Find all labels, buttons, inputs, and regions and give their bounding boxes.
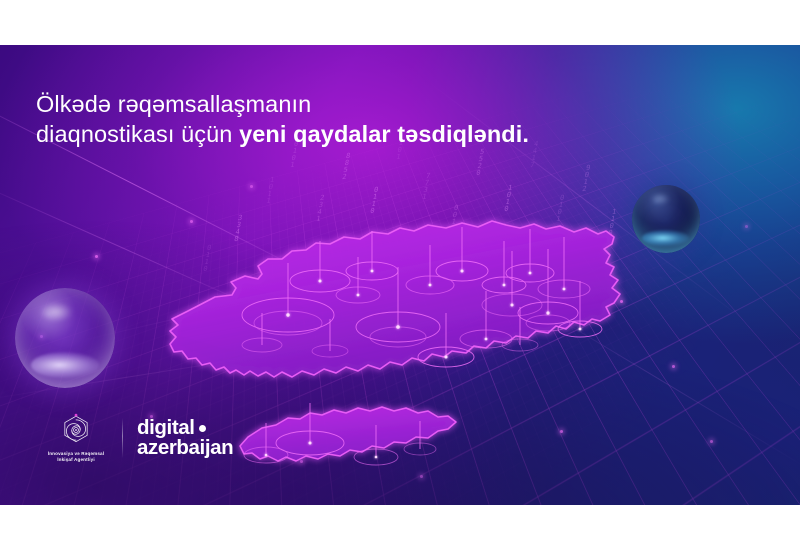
map-exclave-nakhchivan <box>240 407 456 461</box>
floating-digit: 3 3 4 8 <box>233 215 243 243</box>
floating-digit: 0 1 1 0 <box>369 187 379 215</box>
floating-digit: 0 1 0 1 <box>555 195 565 223</box>
brand-line-1-row: digital <box>137 418 233 438</box>
floating-digit: 1 1 0 0 <box>607 209 617 237</box>
glow-particle <box>190 220 193 223</box>
logo-lockup: İnnovasiya və Rəqəmsal İnkişaf Agentliyi… <box>38 413 233 463</box>
floating-digit: 1 0 1 0 <box>503 185 513 213</box>
floating-digit: 1 0 1 1 <box>265 177 275 205</box>
map-data-pillars <box>262 227 580 457</box>
light-streak <box>519 295 800 466</box>
glow-particle <box>560 430 563 433</box>
glow-particle <box>250 185 253 188</box>
glow-particle <box>745 225 748 228</box>
floating-digit: 0 1 1 0 <box>202 245 212 273</box>
glow-particle <box>420 475 423 478</box>
light-streak <box>60 228 567 346</box>
sphere-highlight <box>642 230 690 246</box>
letterbox-bottom <box>0 505 800 550</box>
floating-digit: 0 0 1 1 <box>449 205 459 233</box>
headline-line-1: Ölkədə rəqəmsallaşmanın <box>36 89 596 119</box>
headline-line-2: diaqnostikası üçün yeni qaydalar təsdiql… <box>36 119 596 149</box>
floating-digit: 8 8 5 2 <box>341 153 351 181</box>
headline-emphasis: yeni qaydalar təsdiqləndi. <box>239 121 529 147</box>
digital-azerbaijan-logo: digital azerbaijan <box>137 418 233 458</box>
floating-digit: 7 7 3 1 <box>421 173 431 201</box>
floating-digit: 2 3 4 1 <box>315 195 325 223</box>
sphere-specular <box>650 193 670 205</box>
glow-particle <box>620 300 623 303</box>
map-landmass <box>170 221 620 377</box>
glow-particle <box>672 365 675 368</box>
logo-divider <box>122 418 123 458</box>
glow-particle <box>300 460 303 463</box>
brand-line-2: azerbaijan <box>137 438 233 458</box>
glow-particle <box>710 440 713 443</box>
sphere-specular <box>39 302 73 322</box>
map-pillar-tips <box>265 270 582 459</box>
blue-glass-sphere <box>632 185 700 253</box>
headline-regular: diaqnostikası üçün <box>36 121 239 147</box>
glow-particle <box>95 255 98 258</box>
brand-dot-icon <box>199 425 206 432</box>
letterbox-top <box>0 0 800 45</box>
brand-line-1: digital <box>137 418 195 438</box>
emblem-dot <box>75 414 78 417</box>
agency-logo: İnnovasiya və Rəqəmsal İnkişaf Agentliyi <box>38 413 114 463</box>
brand-line-2-row: azerbaijan <box>137 438 233 458</box>
promo-banner: 1 0 1 10 1 0 12 3 4 18 8 5 20 1 1 01 1 0… <box>0 0 800 550</box>
floating-digit: 5 5 2 0 <box>475 149 485 177</box>
floating-digit: 9 0 1 2 <box>581 165 591 193</box>
headline: Ölkədə rəqəmsallaşmanın diaqnostikası üç… <box>36 89 596 149</box>
artwork-stage: 1 0 1 10 1 0 12 3 4 18 8 5 20 1 1 01 1 0… <box>0 45 800 505</box>
hexagonal-rose-emblem-icon <box>59 413 93 447</box>
map-data-circles <box>242 261 602 465</box>
sphere-highlight <box>31 352 99 378</box>
purple-glass-sphere <box>15 288 115 388</box>
agency-name: İnnovasiya və Rəqəmsal İnkişaf Agentliyi <box>48 451 104 463</box>
